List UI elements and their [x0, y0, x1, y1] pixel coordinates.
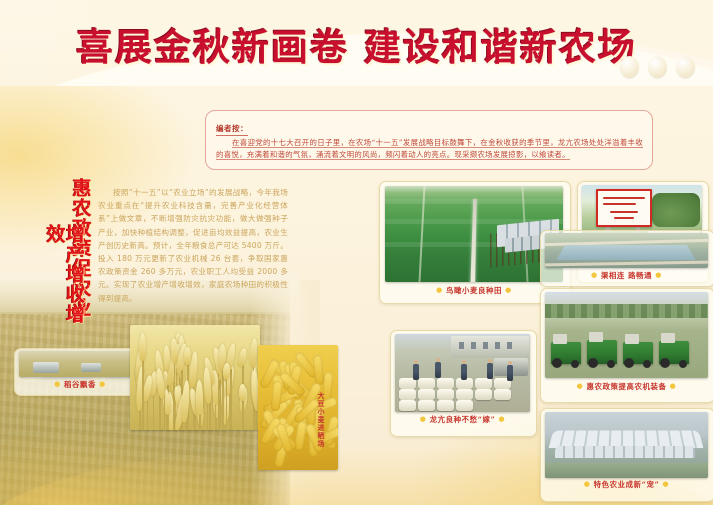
editor-note-label: 编者按：	[216, 123, 248, 136]
photo-card-grain-bags: ● 龙亢良种不愁“嫁” ●	[390, 330, 535, 435]
caption-bead-right-icon: ●	[99, 379, 106, 388]
caption-bead-right-icon: ●	[670, 381, 677, 390]
article-body-text: 按照“十一五”以“农业立场”的发展战略，今年我场农业重点在“提升农业科技含量，完…	[98, 186, 288, 305]
photo-card-canal-road: ● 渠相连 路畅通 ●	[540, 230, 713, 285]
poster-header: 喜展金秋新画卷 建设和谐新农场	[0, 0, 713, 86]
header-dot-icon-3	[676, 56, 695, 78]
photo-image-rice-field	[19, 351, 141, 377]
caption-text: 特色农业成新“宠”	[594, 480, 660, 489]
header-dot-group	[620, 56, 695, 78]
photo-image-greenhouse	[545, 412, 708, 478]
header-dot-icon-2	[648, 56, 667, 78]
photo-caption-grain-bags: ● 龙亢良种不愁“嫁” ●	[390, 414, 535, 425]
tractor-icon-2	[587, 340, 617, 364]
photo-caption-rice-field: ● 稻谷飘香 ●	[14, 379, 146, 390]
caption-bead-right-icon: ●	[663, 479, 670, 488]
photo-image-tractors	[545, 292, 708, 378]
photo-caption-greenhouse: ● 特色农业成新“宠” ●	[540, 479, 713, 490]
harvester-icon-1	[33, 362, 59, 373]
caption-bead-right-icon: ●	[505, 285, 512, 294]
editor-note-box: 编者按： 在喜迎党的十七大召开的日子里，在农场“十一五”发展战略目标鼓舞下，在金…	[205, 110, 653, 170]
caption-text: 惠农政策提高农机装备	[587, 382, 667, 391]
editor-note-text: 在喜迎党的十七大召开的日子里，在农场“十一五”发展战略目标鼓舞下，在金秋收获的季…	[216, 138, 643, 160]
photo-card-tractors: ● 惠农政策提高农机装备 ●	[540, 288, 713, 401]
caption-bead-left-icon: ●	[420, 414, 427, 423]
tractor-icon-3	[623, 342, 653, 364]
photo-card-corn-pile	[258, 345, 338, 470]
photo-image-wheat-ears	[130, 325, 260, 430]
tractor-icon-1	[551, 342, 581, 364]
photo-caption-tractors: ● 惠农政策提高农机装备 ●	[540, 381, 713, 392]
vertical-headline: 惠农政策促农业 增产增收增效	[44, 178, 104, 338]
vertical-headline-line-2: 增产增收增效	[44, 224, 83, 338]
harvester-icon-2	[81, 363, 101, 372]
caption-bead-left-icon: ●	[591, 270, 598, 279]
caption-text: 鸟瞰小麦良种田	[446, 286, 502, 295]
caption-bead-left-icon: ●	[577, 381, 584, 390]
photo-image-grain-bags	[395, 334, 530, 412]
header-dot-icon-1	[620, 56, 639, 78]
photo-caption-corn-pile: 大豆小麦进晒场	[316, 392, 326, 448]
editor-note-body: 在喜迎党的十七大召开的日子里，在农场“十一五”发展战略目标鼓舞下，在金秋收获的季…	[216, 137, 643, 160]
caption-text: 龙亢良种不愁“嫁”	[430, 415, 496, 424]
photo-image-corn-pile	[258, 345, 338, 470]
caption-bead-right-icon: ●	[655, 270, 662, 279]
caption-text: 渠相连 路畅通	[601, 271, 652, 280]
photo-card-rice-field: ● 稻谷飘香 ●	[14, 348, 146, 394]
photo-image-canal-road	[545, 233, 708, 268]
photo-caption-canal-road: ● 渠相连 路畅通 ●	[540, 270, 713, 281]
tractor-icon-4	[659, 341, 689, 364]
photo-card-wheat-ears	[130, 325, 260, 430]
poster-canvas: 喜展金秋新画卷 建设和谐新农场 编者按： 在喜迎党的十七大召开的日子里，在农场“…	[0, 0, 713, 505]
field-signboard-icon	[596, 189, 652, 227]
caption-bead-right-icon: ●	[499, 414, 506, 423]
caption-bead-left-icon: ●	[584, 479, 591, 488]
caption-text: 稻谷飘香	[64, 380, 96, 389]
poster-title: 喜展金秋新画卷 建设和谐新农场	[0, 17, 713, 71]
photo-image-wheat-aerial	[385, 186, 563, 282]
photo-card-greenhouse: ● 特色农业成新“宠” ●	[540, 408, 713, 500]
caption-bead-left-icon: ●	[436, 285, 443, 294]
caption-bead-left-icon: ●	[54, 379, 61, 388]
